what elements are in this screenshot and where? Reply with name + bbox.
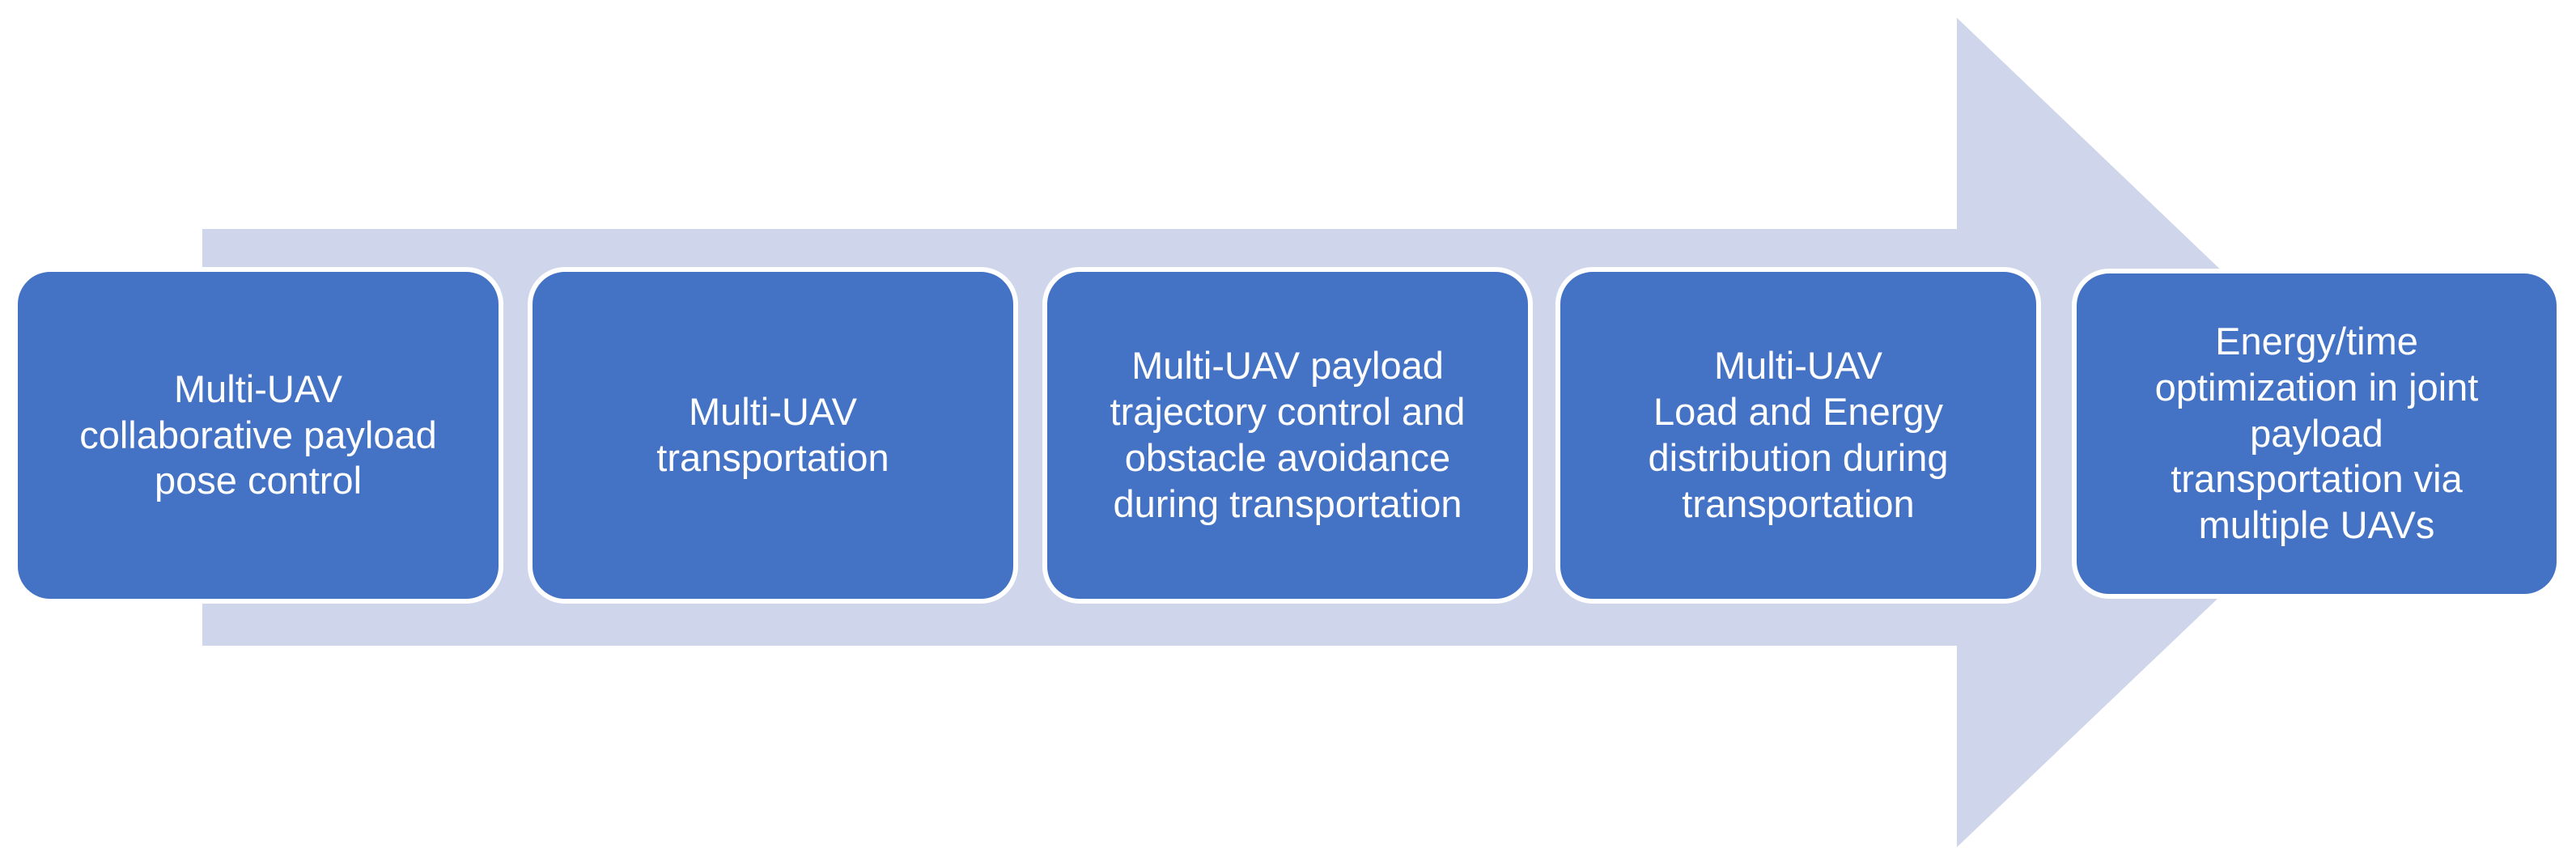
diagram-canvas: Multi-UAV collaborative payload pose con…	[0, 0, 2576, 865]
process-step-3-label: Multi-UAV payload trajectory control and…	[1110, 343, 1466, 527]
process-step-1-label: Multi-UAV collaborative payload pose con…	[79, 367, 437, 505]
process-step-5[interactable]: Energy/time optimization in joint payloa…	[2072, 269, 2561, 599]
process-step-4[interactable]: Multi-UAV Load and Energy distribution d…	[1555, 267, 2041, 604]
process-step-2-label: Multi-UAV transportation	[656, 389, 889, 481]
process-step-2[interactable]: Multi-UAV transportation	[528, 267, 1018, 604]
process-step-4-label: Multi-UAV Load and Energy distribution d…	[1649, 343, 1949, 527]
process-step-5-label: Energy/time optimization in joint payloa…	[2155, 319, 2479, 549]
process-step-3[interactable]: Multi-UAV payload trajectory control and…	[1042, 267, 1533, 604]
process-step-1[interactable]: Multi-UAV collaborative payload pose con…	[13, 267, 503, 604]
